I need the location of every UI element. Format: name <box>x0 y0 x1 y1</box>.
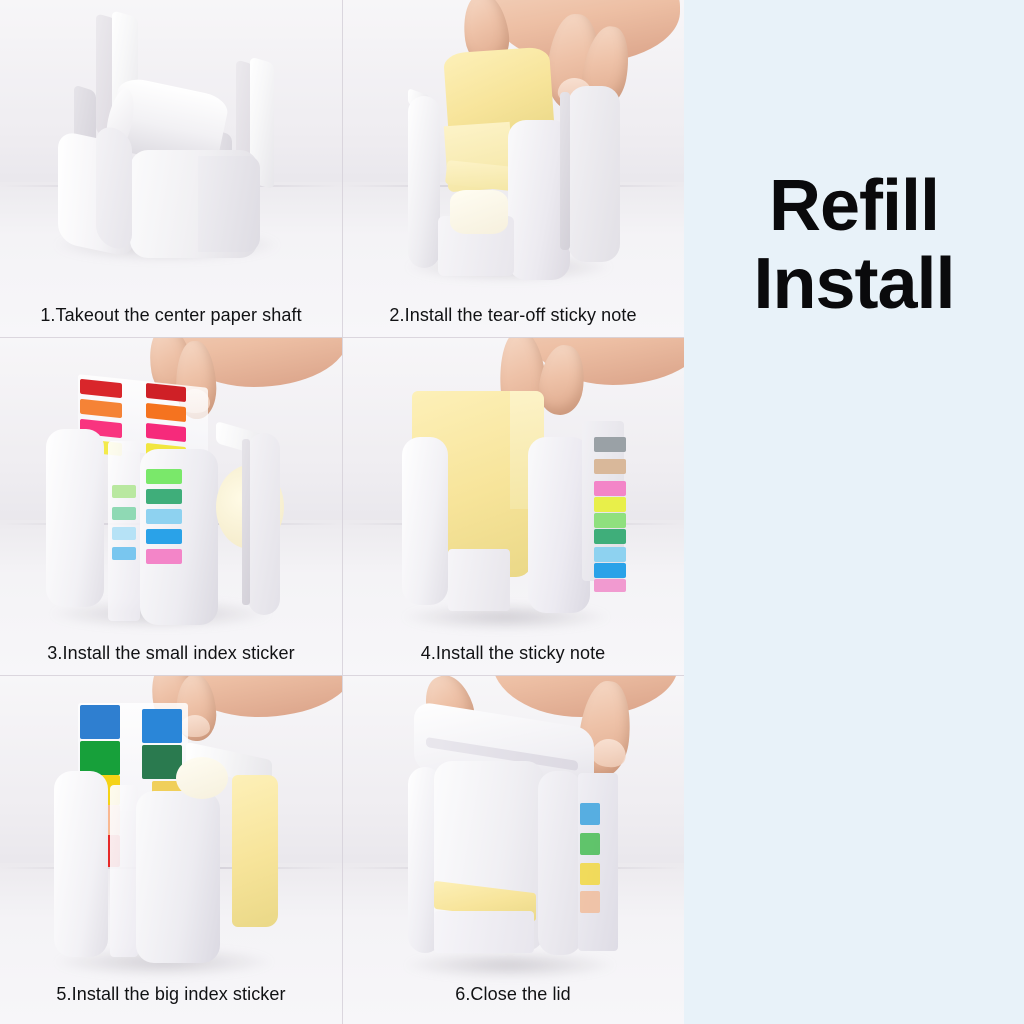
index-tab-peach <box>580 891 600 913</box>
dispenser-front-wall <box>136 791 220 963</box>
index-tab-magenta <box>594 579 626 592</box>
step-caption-5: 5.Install the big index sticker <box>0 984 342 1006</box>
index-tab-yellow <box>594 497 626 512</box>
paper-roll <box>176 757 228 799</box>
dispenser-right-slot <box>560 92 570 250</box>
index-tab-pink <box>594 481 626 496</box>
product-instruction-image: 1.Takeout the center paper shaft <box>0 0 1024 1024</box>
index-tab-lightblue <box>146 509 182 524</box>
index-tab-yellow <box>580 863 600 885</box>
title-line-2: Install <box>753 246 954 324</box>
grid-divider-horizontal-1 <box>0 337 684 338</box>
big-index-tab-blue-2 <box>142 709 182 743</box>
dispenser-base-window <box>448 549 510 611</box>
step-caption-4: 4.Install the sticky note <box>342 643 684 665</box>
title-line-1: Refill <box>769 168 939 246</box>
index-tab-tan <box>594 459 626 474</box>
step-cell-3: 3.Install the small index sticker <box>0 337 342 675</box>
step-cell-2: 2.Install the tear-off sticky note <box>342 0 684 337</box>
index-tab-green <box>594 529 626 544</box>
grid-divider-vertical <box>342 0 343 1024</box>
index-tab-green <box>146 469 182 484</box>
dispenser-left-wall <box>46 429 104 607</box>
index-tab-green <box>580 833 600 855</box>
photo-step-1 <box>0 0 342 337</box>
dispenser-front-right-wall <box>198 156 260 252</box>
product-shadow <box>402 951 618 979</box>
step-photo-grid: 1.Takeout the center paper shaft <box>0 0 684 1024</box>
index-tab-lightgreen-left <box>112 485 136 498</box>
photo-step-4 <box>342 337 684 675</box>
dispenser-left-wall <box>54 771 108 957</box>
inner-paper-core <box>450 190 508 234</box>
step-cell-1: 1.Takeout the center paper shaft <box>0 0 342 337</box>
photo-step-5 <box>0 675 342 1024</box>
title-panel: Refill Install <box>684 0 1024 1024</box>
index-tab-lightblue <box>594 547 626 562</box>
index-tab-skyblue-left <box>112 527 136 540</box>
step-caption-3: 3.Install the small index sticker <box>0 643 342 665</box>
big-index-tab-green <box>80 741 120 775</box>
index-tab-lightgreen <box>594 513 626 528</box>
step-cell-4: 4.Install the sticky note <box>342 337 684 675</box>
step-cell-5: 5.Install the big index sticker <box>0 675 342 1024</box>
step-caption-2: 2.Install the tear-off sticky note <box>342 305 684 327</box>
index-tab-teal-left <box>112 507 136 520</box>
dispenser-right-wall <box>538 771 582 955</box>
photo-step-3 <box>0 337 342 675</box>
dispenser-base-front <box>434 911 534 953</box>
dispenser-right-slot <box>242 439 250 605</box>
step-caption-6: 6.Close the lid <box>342 984 684 1006</box>
index-tab-blue-left <box>112 547 136 560</box>
dispenser-left-wall <box>408 96 440 268</box>
dispenser-left-wall <box>402 437 448 605</box>
step-caption-1: 1.Takeout the center paper shaft <box>0 305 342 327</box>
dispenser-front-wall <box>528 437 590 613</box>
big-index-tab-blue <box>80 705 120 739</box>
photo-step-6 <box>342 675 684 1024</box>
big-index-slot-panel <box>110 785 138 957</box>
photo-step-2 <box>342 0 684 337</box>
dispenser-right-wall <box>568 86 620 262</box>
step-cell-6: 6.Close the lid <box>342 675 684 1024</box>
index-tab-darkgreen <box>146 489 182 504</box>
index-tab-gray <box>594 437 626 452</box>
index-tab-magenta <box>146 549 182 564</box>
index-tab-blue <box>146 529 182 544</box>
index-tab-blue <box>580 803 600 825</box>
index-tab-blue <box>594 563 626 578</box>
grid-divider-horizontal-2 <box>0 675 684 676</box>
index-sticker-rail <box>578 773 618 951</box>
loaded-sticky-note <box>232 775 278 927</box>
dispenser-right-wall <box>248 433 280 615</box>
dispenser-center-divider <box>96 124 132 253</box>
